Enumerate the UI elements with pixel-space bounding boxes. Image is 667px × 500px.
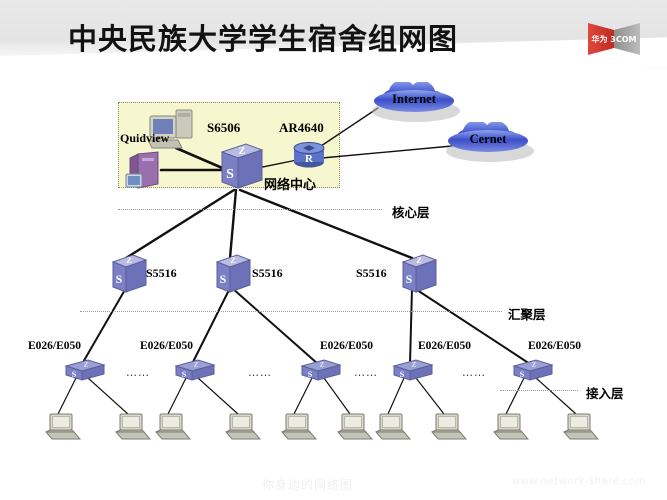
switch-face-glyph: S [400, 370, 405, 379]
aggregation-switch-1: Z S [108, 252, 148, 301]
access-switch-5-label: E026/E050 [528, 340, 581, 352]
aggregation-switch-2-label: S5516 [252, 266, 283, 281]
access-switch-1: Z S [62, 358, 106, 389]
pc-icon [154, 412, 192, 447]
quidview-label: Quidview [120, 131, 169, 146]
switch-top-glyph: Z [320, 361, 325, 369]
switch-top-glyph: Z [230, 256, 235, 265]
access-switch-4: Z S [390, 358, 434, 389]
access-switch-1-label: E026/E050 [28, 340, 81, 352]
access-layer-separator [500, 390, 578, 391]
switch-top-glyph: Z [126, 256, 131, 265]
switch-face-glyph: S [182, 370, 187, 379]
switch-face-glyph: S [220, 272, 227, 286]
diagram-canvas: 中央民族大学学生宿舍组网图 华为 3COM [0, 0, 667, 500]
pc-icon [280, 412, 318, 447]
switch-top-glyph: Z [239, 146, 246, 157]
pc-icon [430, 412, 468, 447]
access-ellipsis-3: …… [354, 366, 378, 379]
page-title: 中央民族大学学生宿舍组网图 [68, 16, 458, 58]
switch-top-glyph: Z [532, 361, 537, 369]
s6506-switch-icon: Z S [216, 140, 264, 199]
switch-face-glyph: S [308, 370, 313, 379]
aggregation-layer-label: 汇聚层 [508, 304, 546, 323]
access-ellipsis-2: …… [248, 366, 272, 379]
access-switch-5: Z S [510, 358, 554, 389]
cloud-label: Cernet [470, 132, 508, 146]
aggregation-layer-separator [80, 311, 502, 312]
aggregation-switch-1-label: S5516 [146, 266, 177, 281]
router-face-glyph: R [305, 153, 314, 165]
aggregation-switch-3: Z S [398, 252, 438, 301]
switch-face-glyph: S [520, 370, 525, 379]
ar4640-label: AR4640 [279, 120, 324, 136]
pc-icon [374, 412, 412, 447]
switch-face-glyph: S [406, 272, 413, 286]
pc-icon [336, 412, 374, 447]
pc-icon [44, 412, 82, 447]
watermark-center: 你身边的网络图 [262, 476, 353, 493]
access-switch-4-label: E026/E050 [418, 340, 471, 352]
pc-icon [492, 412, 530, 447]
aggregation-switch-2: Z S [212, 252, 252, 301]
switch-top-glyph: Z [412, 361, 417, 369]
pc-icon [562, 412, 600, 447]
access-switch-3-label: E026/E050 [320, 340, 373, 352]
aggregation-switch-3-label: S5516 [356, 266, 387, 281]
cloud-cernet: Cernet [440, 122, 536, 169]
s6506-label: S6506 [207, 120, 240, 136]
pc-icon [114, 412, 152, 447]
access-ellipsis-4: …… [462, 366, 486, 379]
switch-face-glyph: S [72, 370, 77, 379]
ar4640-router-icon: R [292, 140, 326, 175]
network-center-label: 网络中心 [264, 174, 316, 193]
quidview-server-icon [124, 150, 168, 199]
cloud-label: Internet [392, 92, 437, 106]
access-layer-label: 接入层 [586, 383, 624, 402]
core-layer-separator [118, 209, 382, 210]
switch-top-glyph: Z [84, 361, 89, 369]
switch-top-glyph: Z [416, 256, 421, 265]
switch-face-glyph: S [226, 167, 234, 182]
huawei-3com-logo: 华为 3COM [586, 19, 642, 59]
pc-icon [224, 412, 262, 447]
access-switch-2-label: E026/E050 [140, 340, 193, 352]
switch-top-glyph: Z [194, 361, 199, 369]
access-switch-3: Z S [298, 358, 342, 389]
switch-face-glyph: S [116, 272, 123, 286]
access-switch-2: Z S [172, 358, 216, 389]
watermark-url: www.network-share.com [512, 476, 646, 487]
core-layer-label: 核心层 [392, 202, 430, 221]
access-ellipsis-1: …… [126, 366, 150, 379]
logo-text: 华为 3COM [592, 34, 637, 44]
